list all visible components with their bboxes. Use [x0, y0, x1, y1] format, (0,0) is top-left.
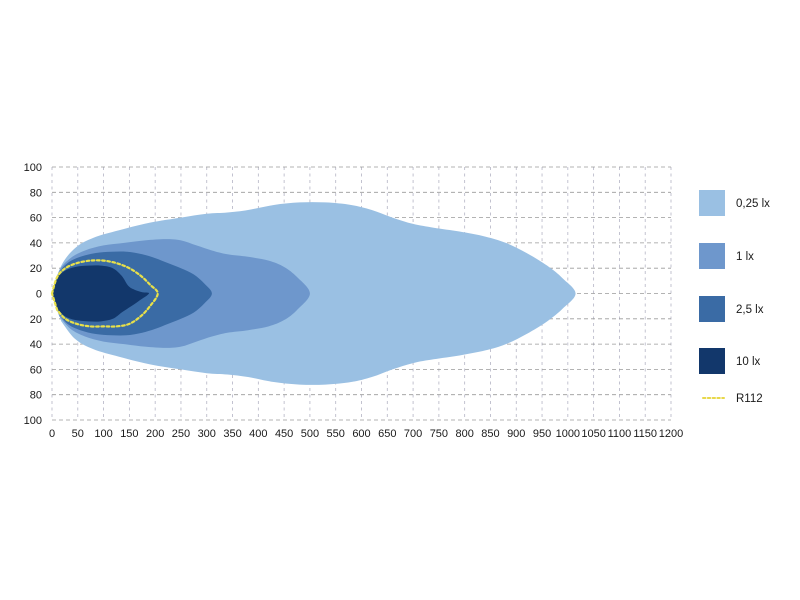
x-axis-tick-label: 1000 — [556, 428, 580, 440]
x-axis-tick-label: 50 — [72, 428, 84, 440]
legend-swatch-3 — [699, 348, 725, 374]
x-axis-tick-label: 350 — [223, 428, 241, 440]
x-axis-tick-label: 200 — [146, 428, 164, 440]
y-axis-tick-label: 40 — [30, 339, 42, 351]
x-axis-tick-label: 1200 — [659, 428, 683, 440]
legend-label-2: 2,5 lx — [736, 304, 764, 316]
y-axis-tick-label: 100 — [24, 162, 42, 174]
y-axis-tick-label: 80 — [30, 390, 42, 402]
x-axis-tick-label: 100 — [94, 428, 112, 440]
x-axis-tick-label: 250 — [172, 428, 190, 440]
legend-swatch-1 — [699, 243, 725, 269]
x-axis-tick-label: 1150 — [633, 428, 657, 440]
x-axis-tick-label: 550 — [327, 428, 345, 440]
x-axis-tick-label: 700 — [404, 428, 422, 440]
x-axis-tick-label: 850 — [481, 428, 499, 440]
legend-label-4: R112 — [736, 393, 763, 405]
legend-label-3: 10 lx — [736, 356, 761, 368]
y-axis-tick-label: 80 — [30, 187, 42, 199]
x-axis-tick-label: 400 — [249, 428, 267, 440]
x-axis-tick-label: 800 — [455, 428, 473, 440]
x-axis-tick-label: 0 — [49, 428, 55, 440]
x-axis-tick-label: 650 — [378, 428, 396, 440]
x-axis-tick-label: 600 — [352, 428, 370, 440]
x-axis-tick-label: 900 — [507, 428, 525, 440]
x-axis-tick-label: 1050 — [581, 428, 605, 440]
legend-label-0: 0,25 lx — [736, 198, 770, 210]
isolux-plot-svg: 0501001502002503003504004505005506006507… — [0, 0, 800, 600]
x-axis-tick-label: 300 — [198, 428, 216, 440]
y-axis-tick-label: 100 — [24, 415, 42, 427]
y-axis-tick-label: 60 — [30, 364, 42, 376]
y-axis-tick-label: 40 — [30, 238, 42, 250]
legend-label-1: 1 lx — [736, 251, 754, 263]
y-axis-tick-label: 20 — [30, 314, 42, 326]
legend-swatch-2 — [699, 296, 725, 322]
x-axis-tick-label: 750 — [430, 428, 448, 440]
y-axis-tick-label: 0 — [36, 289, 42, 301]
isolux-chart: 0501001502002503003504004505005506006507… — [0, 0, 800, 600]
x-axis-tick-label: 500 — [301, 428, 319, 440]
legend-swatch-0 — [699, 190, 725, 216]
x-axis-tick-label: 450 — [275, 428, 293, 440]
y-axis-tick-label: 20 — [30, 263, 42, 275]
x-axis-tick-label: 950 — [533, 428, 551, 440]
x-axis-tick-label: 1100 — [608, 428, 632, 440]
y-axis-tick-label: 60 — [30, 213, 42, 225]
x-axis-tick-label: 150 — [120, 428, 138, 440]
